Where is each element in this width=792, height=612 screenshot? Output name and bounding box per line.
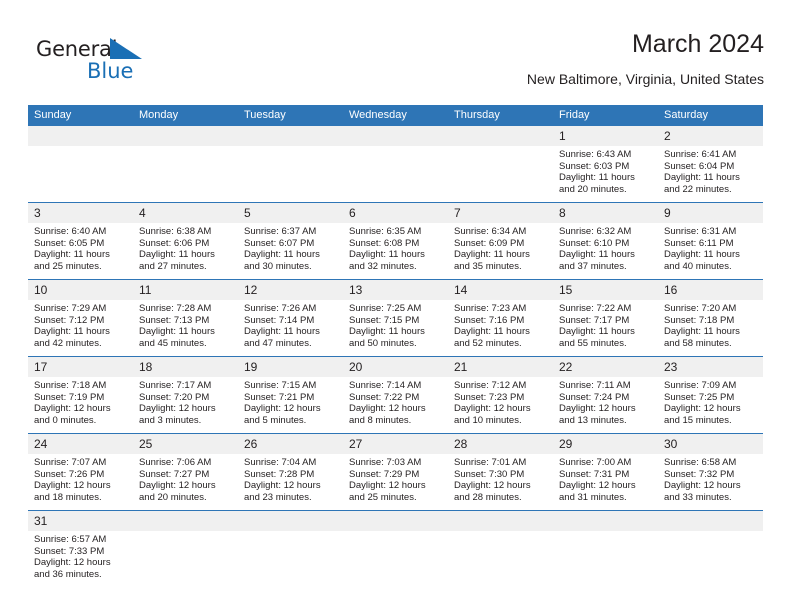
day-cell[interactable]: Sunrise: 7:25 AM Sunset: 7:15 PM Dayligh… (343, 300, 448, 357)
daylight-text-line1: Daylight: 12 hours (664, 403, 757, 415)
sunrise-text: Sunrise: 7:15 AM (244, 380, 337, 392)
daylight-text-line1: Daylight: 11 hours (349, 249, 442, 261)
day-cell[interactable]: Sunrise: 7:20 AM Sunset: 7:18 PM Dayligh… (658, 300, 763, 357)
daylight-text-line2: and 40 minutes. (664, 261, 757, 273)
daylight-text-line2: and 45 minutes. (139, 338, 232, 350)
day-number[interactable] (133, 511, 238, 532)
day-number[interactable] (658, 511, 763, 532)
sunrise-text: Sunrise: 6:34 AM (454, 226, 547, 238)
daylight-text-line1: Daylight: 11 hours (454, 326, 547, 338)
daylight-text-line1: Daylight: 12 hours (34, 403, 127, 415)
daylight-text-line1: Daylight: 12 hours (454, 480, 547, 492)
daylight-text-line2: and 32 minutes. (349, 261, 442, 273)
daylight-text-line2: and 22 minutes. (664, 184, 757, 196)
daylight-text-line2: and 36 minutes. (34, 569, 127, 581)
day-cell[interactable] (343, 531, 448, 609)
sunrise-text: Sunrise: 7:06 AM (139, 457, 232, 469)
day-number[interactable] (28, 126, 133, 146)
day-cell[interactable]: Sunrise: 7:04 AM Sunset: 7:28 PM Dayligh… (238, 454, 343, 511)
triangle-flag-icon (110, 38, 144, 60)
day-number[interactable]: 26 (238, 434, 343, 455)
sunrise-text: Sunrise: 7:29 AM (34, 303, 127, 315)
day-number[interactable]: 18 (133, 357, 238, 378)
day-number[interactable]: 19 (238, 357, 343, 378)
daylight-text-line2: and 10 minutes. (454, 415, 547, 427)
day-number[interactable]: 8 (553, 203, 658, 224)
weekday-header-sunday: Sunday (28, 105, 133, 126)
daylight-text-line2: and 25 minutes. (349, 492, 442, 504)
daylight-text-line2: and 27 minutes. (139, 261, 232, 273)
daylight-text-line2: and 25 minutes. (34, 261, 127, 273)
daylight-text-line1: Daylight: 12 hours (559, 480, 652, 492)
day-cell[interactable]: Sunrise: 7:03 AM Sunset: 7:29 PM Dayligh… (343, 454, 448, 511)
daylight-text-line1: Daylight: 12 hours (244, 480, 337, 492)
sunset-text: Sunset: 7:17 PM (559, 315, 652, 327)
sunset-text: Sunset: 7:19 PM (34, 392, 127, 404)
daylight-text-line2: and 15 minutes. (664, 415, 757, 427)
daylight-text-line2: and 35 minutes. (454, 261, 547, 273)
day-number[interactable] (448, 126, 553, 146)
sunrise-text: Sunrise: 7:14 AM (349, 380, 442, 392)
page-header: General Blue March 2024 New Baltimore, V… (28, 28, 764, 98)
day-number[interactable] (238, 511, 343, 532)
sunset-text: Sunset: 7:24 PM (559, 392, 652, 404)
sunset-text: Sunset: 7:28 PM (244, 469, 337, 481)
day-number[interactable]: 6 (343, 203, 448, 224)
day-number[interactable]: 28 (448, 434, 553, 455)
sunset-text: Sunset: 7:16 PM (454, 315, 547, 327)
calendar-header-row: Sunday Monday Tuesday Wednesday Thursday… (28, 105, 763, 126)
weekday-header-saturday: Saturday (658, 105, 763, 126)
sunrise-text: Sunrise: 6:35 AM (349, 226, 442, 238)
sunrise-text: Sunrise: 7:25 AM (349, 303, 442, 315)
daylight-text-line1: Daylight: 12 hours (139, 480, 232, 492)
sunrise-text: Sunrise: 7:20 AM (664, 303, 757, 315)
sunrise-text: Sunrise: 7:18 AM (34, 380, 127, 392)
daylight-text-line2: and 50 minutes. (349, 338, 442, 350)
day-number[interactable] (133, 126, 238, 146)
general-blue-logo[interactable]: General Blue (36, 36, 166, 88)
day-number[interactable]: 25 (133, 434, 238, 455)
sunrise-text: Sunrise: 7:00 AM (559, 457, 652, 469)
day-cell[interactable]: Sunrise: 6:41 AM Sunset: 6:04 PM Dayligh… (658, 146, 763, 203)
sunset-text: Sunset: 7:13 PM (139, 315, 232, 327)
day-cell[interactable]: Sunrise: 7:09 AM Sunset: 7:25 PM Dayligh… (658, 377, 763, 434)
sunset-text: Sunset: 7:31 PM (559, 469, 652, 481)
sunset-text: Sunset: 7:26 PM (34, 469, 127, 481)
sunrise-text: Sunrise: 6:40 AM (34, 226, 127, 238)
sunset-text: Sunset: 7:25 PM (664, 392, 757, 404)
sunset-text: Sunset: 6:07 PM (244, 238, 337, 250)
day-number[interactable]: 27 (343, 434, 448, 455)
daylight-text-line1: Daylight: 12 hours (244, 403, 337, 415)
sunrise-text: Sunrise: 7:07 AM (34, 457, 127, 469)
sunrise-text: Sunrise: 7:12 AM (454, 380, 547, 392)
day-number[interactable]: 5 (238, 203, 343, 224)
day-cell[interactable] (658, 531, 763, 609)
sunset-text: Sunset: 7:23 PM (454, 392, 547, 404)
sunset-text: Sunset: 7:22 PM (349, 392, 442, 404)
sunrise-sunset-calendar: Sunday Monday Tuesday Wednesday Thursday… (28, 105, 763, 609)
day-cell[interactable] (238, 146, 343, 203)
daylight-text-line2: and 42 minutes. (34, 338, 127, 350)
daylight-text-line1: Daylight: 12 hours (34, 480, 127, 492)
daylight-text-line2: and 31 minutes. (559, 492, 652, 504)
day-number[interactable]: 1 (553, 126, 658, 146)
day-number[interactable]: 16 (658, 280, 763, 301)
sunset-text: Sunset: 6:09 PM (454, 238, 547, 250)
sunrise-text: Sunrise: 6:57 AM (34, 534, 127, 546)
day-cell[interactable]: Sunrise: 7:26 AM Sunset: 7:14 PM Dayligh… (238, 300, 343, 357)
day-number[interactable]: 3 (28, 203, 133, 224)
daylight-text-line1: Daylight: 11 hours (139, 326, 232, 338)
week-daynum-row: 31 (28, 511, 763, 532)
sunset-text: Sunset: 7:21 PM (244, 392, 337, 404)
sunset-text: Sunset: 7:33 PM (34, 546, 127, 558)
daylight-text-line1: Daylight: 11 hours (664, 172, 757, 184)
day-number[interactable]: 31 (28, 511, 133, 532)
daylight-text-line1: Daylight: 11 hours (244, 326, 337, 338)
weekday-header-monday: Monday (133, 105, 238, 126)
day-cell[interactable]: Sunrise: 7:06 AM Sunset: 7:27 PM Dayligh… (133, 454, 238, 511)
sunrise-text: Sunrise: 7:09 AM (664, 380, 757, 392)
daylight-text-line1: Daylight: 12 hours (349, 403, 442, 415)
day-number[interactable] (343, 511, 448, 532)
sunset-text: Sunset: 7:18 PM (664, 315, 757, 327)
sunset-text: Sunset: 6:04 PM (664, 161, 757, 173)
daylight-text-line1: Daylight: 11 hours (664, 249, 757, 261)
day-number[interactable]: 14 (448, 280, 553, 301)
day-number[interactable]: 23 (658, 357, 763, 378)
weekday-header-friday: Friday (553, 105, 658, 126)
day-cell[interactable]: Sunrise: 6:37 AM Sunset: 6:07 PM Dayligh… (238, 223, 343, 280)
day-cell[interactable]: Sunrise: 6:57 AM Sunset: 7:33 PM Dayligh… (28, 531, 133, 609)
daylight-text-line1: Daylight: 11 hours (244, 249, 337, 261)
daylight-text-line2: and 23 minutes. (244, 492, 337, 504)
sunrise-text: Sunrise: 7:28 AM (139, 303, 232, 315)
sunrise-text: Sunrise: 7:01 AM (454, 457, 547, 469)
day-cell[interactable]: Sunrise: 7:01 AM Sunset: 7:30 PM Dayligh… (448, 454, 553, 511)
daylight-text-line1: Daylight: 11 hours (454, 249, 547, 261)
sunset-text: Sunset: 6:11 PM (664, 238, 757, 250)
day-number[interactable]: 12 (238, 280, 343, 301)
day-number[interactable]: 24 (28, 434, 133, 455)
day-cell[interactable] (133, 146, 238, 203)
daylight-text-line2: and 58 minutes. (664, 338, 757, 350)
day-number[interactable]: 17 (28, 357, 133, 378)
daylight-text-line1: Daylight: 11 hours (139, 249, 232, 261)
sunrise-text: Sunrise: 6:58 AM (664, 457, 757, 469)
sunset-text: Sunset: 6:06 PM (139, 238, 232, 250)
calendar-body: 1 2 (28, 126, 763, 609)
day-cell[interactable]: Sunrise: 6:34 AM Sunset: 6:09 PM Dayligh… (448, 223, 553, 280)
daylight-text-line1: Daylight: 12 hours (664, 480, 757, 492)
weekday-header-wednesday: Wednesday (343, 105, 448, 126)
day-cell[interactable] (238, 531, 343, 609)
day-cell[interactable]: Sunrise: 7:14 AM Sunset: 7:22 PM Dayligh… (343, 377, 448, 434)
title-block: March 2024 New Baltimore, Virginia, Unit… (527, 28, 764, 89)
sunset-text: Sunset: 6:10 PM (559, 238, 652, 250)
day-cell[interactable] (133, 531, 238, 609)
day-number[interactable]: 22 (553, 357, 658, 378)
week-daynum-row: 17 18 19 20 21 22 23 (28, 357, 763, 378)
day-cell[interactable]: Sunrise: 6:40 AM Sunset: 6:05 PM Dayligh… (28, 223, 133, 280)
sunrise-text: Sunrise: 6:37 AM (244, 226, 337, 238)
week-daynum-row: 1 2 (28, 126, 763, 146)
day-number[interactable]: 15 (553, 280, 658, 301)
daylight-text-line1: Daylight: 11 hours (34, 326, 127, 338)
day-cell[interactable]: Sunrise: 7:07 AM Sunset: 7:26 PM Dayligh… (28, 454, 133, 511)
day-cell[interactable]: Sunrise: 7:18 AM Sunset: 7:19 PM Dayligh… (28, 377, 133, 434)
sunrise-text: Sunrise: 7:26 AM (244, 303, 337, 315)
daylight-text-line2: and 8 minutes. (349, 415, 442, 427)
daylight-text-line2: and 33 minutes. (664, 492, 757, 504)
daylight-text-line1: Daylight: 12 hours (454, 403, 547, 415)
day-cell[interactable]: Sunrise: 7:11 AM Sunset: 7:24 PM Dayligh… (553, 377, 658, 434)
sunrise-text: Sunrise: 7:11 AM (559, 380, 652, 392)
weekday-header-thursday: Thursday (448, 105, 553, 126)
sunset-text: Sunset: 6:03 PM (559, 161, 652, 173)
sunset-text: Sunset: 7:30 PM (454, 469, 547, 481)
daylight-text-line2: and 28 minutes. (454, 492, 547, 504)
daylight-text-line2: and 3 minutes. (139, 415, 232, 427)
sunset-text: Sunset: 7:20 PM (139, 392, 232, 404)
day-cell[interactable] (448, 146, 553, 203)
day-number[interactable]: 10 (28, 280, 133, 301)
sunrise-text: Sunrise: 6:41 AM (664, 149, 757, 161)
day-number[interactable] (343, 126, 448, 146)
day-number[interactable]: 20 (343, 357, 448, 378)
week-daynum-row: 24 25 26 27 28 29 30 (28, 434, 763, 455)
day-cell[interactable]: Sunrise: 6:35 AM Sunset: 6:08 PM Dayligh… (343, 223, 448, 280)
week-daynum-row: 3 4 5 6 7 8 9 (28, 203, 763, 224)
week-detail-row: Sunrise: 6:43 AM Sunset: 6:03 PM Dayligh… (28, 146, 763, 203)
daylight-text-line1: Daylight: 12 hours (139, 403, 232, 415)
day-cell[interactable]: Sunrise: 6:32 AM Sunset: 6:10 PM Dayligh… (553, 223, 658, 280)
week-detail-row: Sunrise: 6:40 AM Sunset: 6:05 PM Dayligh… (28, 223, 763, 280)
sunrise-text: Sunrise: 6:38 AM (139, 226, 232, 238)
sunset-text: Sunset: 7:32 PM (664, 469, 757, 481)
logo-word-blue: Blue (87, 58, 133, 84)
daylight-text-line2: and 37 minutes. (559, 261, 652, 273)
daylight-text-line2: and 47 minutes. (244, 338, 337, 350)
sunrise-text: Sunrise: 7:22 AM (559, 303, 652, 315)
day-cell[interactable]: Sunrise: 7:15 AM Sunset: 7:21 PM Dayligh… (238, 377, 343, 434)
sunset-text: Sunset: 7:14 PM (244, 315, 337, 327)
sunrise-text: Sunrise: 6:43 AM (559, 149, 652, 161)
daylight-text-line2: and 18 minutes. (34, 492, 127, 504)
sunrise-text: Sunrise: 6:31 AM (664, 226, 757, 238)
day-cell[interactable]: Sunrise: 6:43 AM Sunset: 6:03 PM Dayligh… (553, 146, 658, 203)
daylight-text-line1: Daylight: 11 hours (349, 326, 442, 338)
week-detail-row: Sunrise: 7:18 AM Sunset: 7:19 PM Dayligh… (28, 377, 763, 434)
day-number[interactable]: 21 (448, 357, 553, 378)
daylight-text-line2: and 13 minutes. (559, 415, 652, 427)
weekday-header-tuesday: Tuesday (238, 105, 343, 126)
sunset-text: Sunset: 6:05 PM (34, 238, 127, 250)
day-number[interactable]: 7 (448, 203, 553, 224)
day-cell[interactable]: Sunrise: 7:12 AM Sunset: 7:23 PM Dayligh… (448, 377, 553, 434)
daylight-text-line2: and 5 minutes. (244, 415, 337, 427)
day-number[interactable] (238, 126, 343, 146)
day-number[interactable]: 2 (658, 126, 763, 146)
daylight-text-line1: Daylight: 11 hours (664, 326, 757, 338)
daylight-text-line1: Daylight: 11 hours (559, 172, 652, 184)
day-cell[interactable] (553, 531, 658, 609)
day-cell[interactable] (28, 146, 133, 203)
day-cell[interactable]: Sunrise: 6:58 AM Sunset: 7:32 PM Dayligh… (658, 454, 763, 511)
day-cell[interactable]: Sunrise: 6:38 AM Sunset: 6:06 PM Dayligh… (133, 223, 238, 280)
day-cell[interactable] (448, 531, 553, 609)
day-number[interactable]: 11 (133, 280, 238, 301)
day-cell[interactable]: Sunrise: 7:22 AM Sunset: 7:17 PM Dayligh… (553, 300, 658, 357)
day-cell[interactable] (343, 146, 448, 203)
week-detail-row: Sunrise: 7:07 AM Sunset: 7:26 PM Dayligh… (28, 454, 763, 511)
sunrise-text: Sunrise: 7:23 AM (454, 303, 547, 315)
daylight-text-line1: Daylight: 12 hours (349, 480, 442, 492)
sunrise-text: Sunrise: 7:04 AM (244, 457, 337, 469)
day-number[interactable]: 13 (343, 280, 448, 301)
sunrise-text: Sunrise: 6:32 AM (559, 226, 652, 238)
day-cell[interactable]: Sunrise: 7:28 AM Sunset: 7:13 PM Dayligh… (133, 300, 238, 357)
week-detail-row: Sunrise: 7:29 AM Sunset: 7:12 PM Dayligh… (28, 300, 763, 357)
day-cell[interactable]: Sunrise: 7:29 AM Sunset: 7:12 PM Dayligh… (28, 300, 133, 357)
sunset-text: Sunset: 6:08 PM (349, 238, 442, 250)
calendar-page: General Blue March 2024 New Baltimore, V… (0, 0, 792, 612)
day-number[interactable] (448, 511, 553, 532)
day-number[interactable]: 30 (658, 434, 763, 455)
page-subtitle: New Baltimore, Virginia, United States (527, 69, 764, 89)
week-detail-row: Sunrise: 6:57 AM Sunset: 7:33 PM Dayligh… (28, 531, 763, 609)
page-title: March 2024 (527, 28, 764, 60)
daylight-text-line1: Daylight: 11 hours (34, 249, 127, 261)
daylight-text-line2: and 20 minutes. (139, 492, 232, 504)
sunrise-text: Sunrise: 7:03 AM (349, 457, 442, 469)
daylight-text-line1: Daylight: 11 hours (559, 249, 652, 261)
daylight-text-line1: Daylight: 12 hours (34, 557, 127, 569)
daylight-text-line2: and 0 minutes. (34, 415, 127, 427)
day-number[interactable]: 4 (133, 203, 238, 224)
daylight-text-line2: and 52 minutes. (454, 338, 547, 350)
daylight-text-line1: Daylight: 11 hours (559, 326, 652, 338)
daylight-text-line2: and 30 minutes. (244, 261, 337, 273)
week-daynum-row: 10 11 12 13 14 15 16 (28, 280, 763, 301)
sunset-text: Sunset: 7:15 PM (349, 315, 442, 327)
day-cell[interactable]: Sunrise: 7:23 AM Sunset: 7:16 PM Dayligh… (448, 300, 553, 357)
day-number[interactable] (553, 511, 658, 532)
day-cell[interactable]: Sunrise: 7:17 AM Sunset: 7:20 PM Dayligh… (133, 377, 238, 434)
sunset-text: Sunset: 7:27 PM (139, 469, 232, 481)
day-cell[interactable]: Sunrise: 6:31 AM Sunset: 6:11 PM Dayligh… (658, 223, 763, 280)
day-number[interactable]: 9 (658, 203, 763, 224)
daylight-text-line2: and 55 minutes. (559, 338, 652, 350)
sunset-text: Sunset: 7:29 PM (349, 469, 442, 481)
daylight-text-line1: Daylight: 12 hours (559, 403, 652, 415)
sunset-text: Sunset: 7:12 PM (34, 315, 127, 327)
day-cell[interactable]: Sunrise: 7:00 AM Sunset: 7:31 PM Dayligh… (553, 454, 658, 511)
daylight-text-line2: and 20 minutes. (559, 184, 652, 196)
day-number[interactable]: 29 (553, 434, 658, 455)
sunrise-text: Sunrise: 7:17 AM (139, 380, 232, 392)
